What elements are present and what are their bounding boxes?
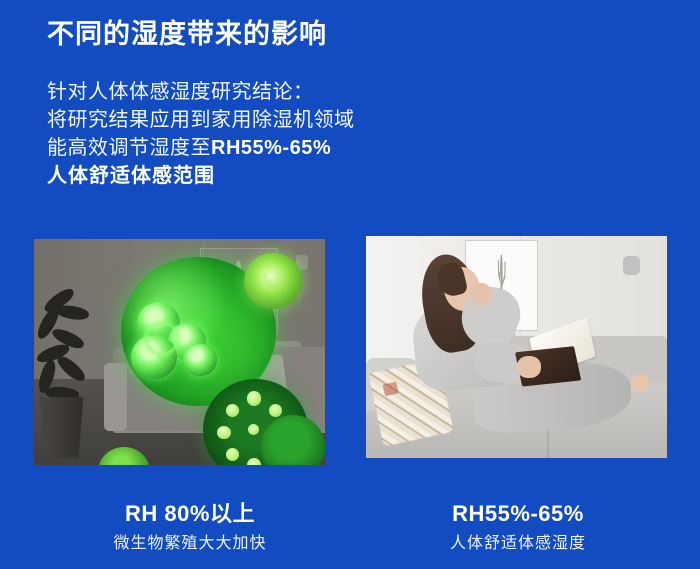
microbe-cell-icon [183, 344, 217, 377]
microbe-spike-icon [226, 448, 240, 461]
potted-plant-foliage [34, 289, 104, 416]
bright-room-illustration [366, 236, 667, 458]
woman-reading-figure [366, 236, 667, 458]
figure-foot [631, 374, 649, 392]
caption-left-title: RH 80%以上 [40, 500, 340, 528]
figure-hand-on-book [517, 356, 541, 378]
microbe-spike-icon [247, 391, 262, 405]
caption-comfort-humidity: RH55%-65% 人体舒适体感湿度 [368, 500, 668, 556]
microbe-ring-icon [139, 316, 186, 366]
plant-leaf-icon [54, 303, 90, 323]
microbe-small-top-icon [244, 253, 302, 310]
microbe-core-icon [263, 269, 282, 287]
caption-left-subtitle: 微生物繁殖大大加快 [40, 532, 340, 556]
page-title: 不同的湿度带来的影响 [47, 18, 327, 50]
body-line-3: 能高效调节湿度至RH55%-65% [47, 134, 355, 162]
photo-panel-comfort-humidity [366, 236, 667, 458]
plant-pot [37, 397, 86, 458]
caption-right-title: RH55%-65% [368, 500, 668, 528]
body-line-4: 人体舒适体感范围 [47, 162, 355, 190]
body-copy: 针对人体体感湿度研究结论： 将研究结果应用到家用除湿机领域 能高效调节湿度至RH… [47, 78, 355, 190]
photo-panel-high-humidity [34, 239, 325, 465]
microbe-spike-icon [269, 404, 283, 417]
body-line-2: 将研究结果应用到家用除湿机领域 [47, 106, 355, 134]
microbe-spike-icon [217, 426, 231, 439]
microbe-spike-icon [226, 404, 240, 417]
humidity-range-highlight: RH55%-65% [211, 137, 331, 159]
dark-room-illustration [34, 239, 325, 465]
body-line-3-prefix: 能高效调节湿度至 [47, 137, 211, 159]
caption-right-subtitle: 人体舒适体感湿度 [368, 532, 668, 556]
caption-high-humidity: RH 80%以上 微生物繁殖大大加快 [40, 500, 340, 556]
body-line-1: 针对人体体感湿度研究结论： [47, 78, 355, 106]
plant-leaf-icon [54, 352, 87, 385]
sofa-armrest [104, 363, 127, 431]
microbe-spike-icon [247, 458, 262, 465]
microbe-core-icon [248, 424, 260, 435]
